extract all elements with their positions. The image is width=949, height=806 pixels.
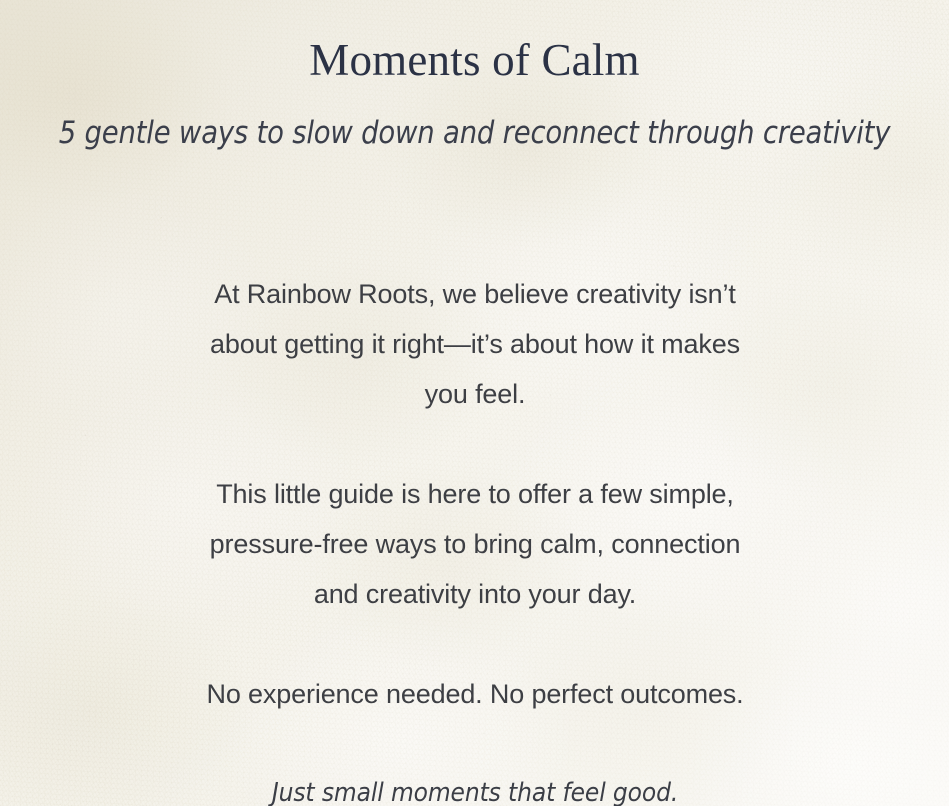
paragraph-line: Just small moments that feel good. — [272, 778, 678, 806]
paragraph-line: No experience needed. No perfect outcome… — [120, 669, 830, 719]
document-page: Moments of Calm 5 gentle ways to slow do… — [0, 0, 949, 806]
paragraph-closing: Just small moments that feel good. — [120, 768, 830, 806]
paragraph-line: This little guide is here to offer a few… — [120, 469, 830, 519]
page-subtitle: 5 gentle ways to slow down and reconnect… — [7, 116, 942, 152]
paragraph-guide: This little guide is here to offer a few… — [120, 469, 830, 619]
paragraph-line: pressure-free ways to bring calm, connec… — [120, 519, 830, 569]
paragraph-line: At Rainbow Roots, we believe creativity … — [120, 269, 830, 319]
paragraph-line: and creativity into your day. — [120, 569, 830, 619]
paragraph-line: you feel. — [120, 369, 830, 419]
paragraph-line: about getting it right—it’s about how it… — [120, 319, 830, 369]
page-title: Moments of Calm — [0, 34, 949, 87]
document-content: Moments of Calm 5 gentle ways to slow do… — [0, 0, 949, 806]
paragraph-no-experience: No experience needed. No perfect outcome… — [120, 669, 830, 719]
paragraph-intro: At Rainbow Roots, we believe creativity … — [120, 269, 830, 419]
